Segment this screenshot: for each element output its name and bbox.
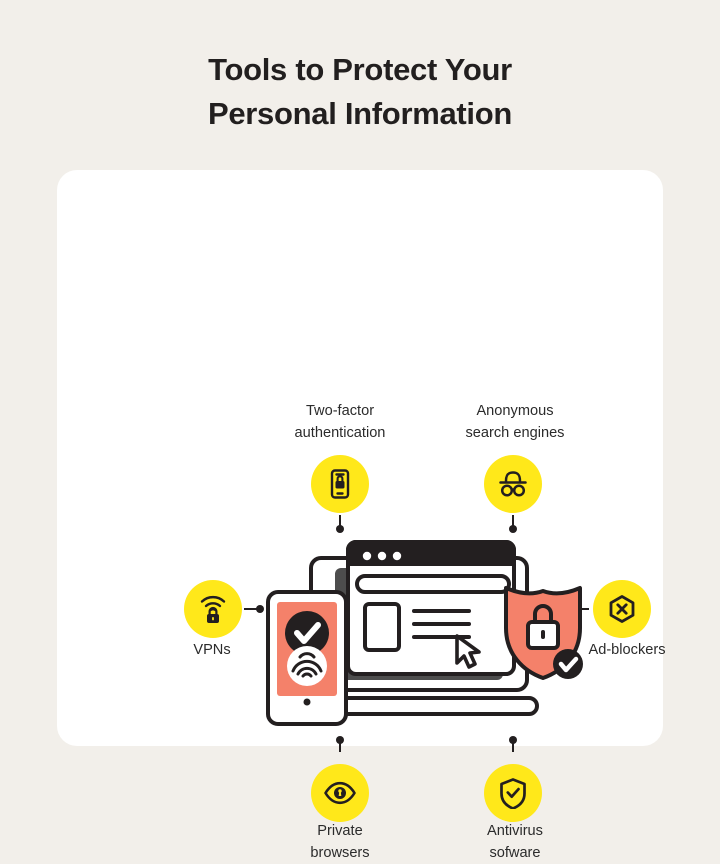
shield-check-icon [498,777,528,809]
address-bar [357,576,509,592]
badge-ad-blockers[interactable] [593,580,651,638]
window-dot-2 [378,552,386,560]
label-ad-blockers: Ad-blockers [557,640,697,662]
browser-window [348,542,514,674]
devices-protected-illustration [253,530,583,730]
wifi-lock-icon [197,593,229,625]
diagram-card: Two-factor authentication Anonymous sear… [57,170,663,746]
badge-vpns[interactable] [184,580,242,638]
connector-dot-private-browsers [336,736,344,744]
shield-lock-keyhole [541,630,545,639]
page-title-line-1: Tools to Protect Your [60,48,660,92]
connector-dot-antivirus [509,736,517,744]
label-private-browsers: Private browsers [257,821,423,864]
phone-home-button [304,699,311,706]
laptop-base [335,698,537,714]
badge-two-factor-authentication[interactable] [311,455,369,513]
content-image-block [365,604,399,650]
fingerprint-icon-bg [287,646,327,686]
page-title-line-2: Personal Information [60,92,660,136]
label-anonymous-search-engines: Anonymous search engines [432,401,598,444]
smartphone [268,592,346,724]
label-vpns: VPNs [157,640,267,662]
badge-anonymous-search-engines[interactable] [484,455,542,513]
label-two-factor-authentication: Two-factor authentication [257,401,423,444]
phone-lock-icon [324,468,356,500]
incognito-icon [496,469,530,499]
window-dot-3 [393,552,401,560]
page-title: Tools to Protect Your Personal Informati… [60,48,660,136]
badge-private-browsers[interactable] [311,764,369,822]
eye-lock-icon [323,780,357,806]
window-dot-1 [363,552,371,560]
badge-antivirus-software[interactable] [484,764,542,822]
label-antivirus-software: Antivirus sofware [432,821,598,864]
infographic-page: Tools to Protect Your Personal Informati… [0,0,720,799]
hexagon-x-icon [606,593,638,625]
